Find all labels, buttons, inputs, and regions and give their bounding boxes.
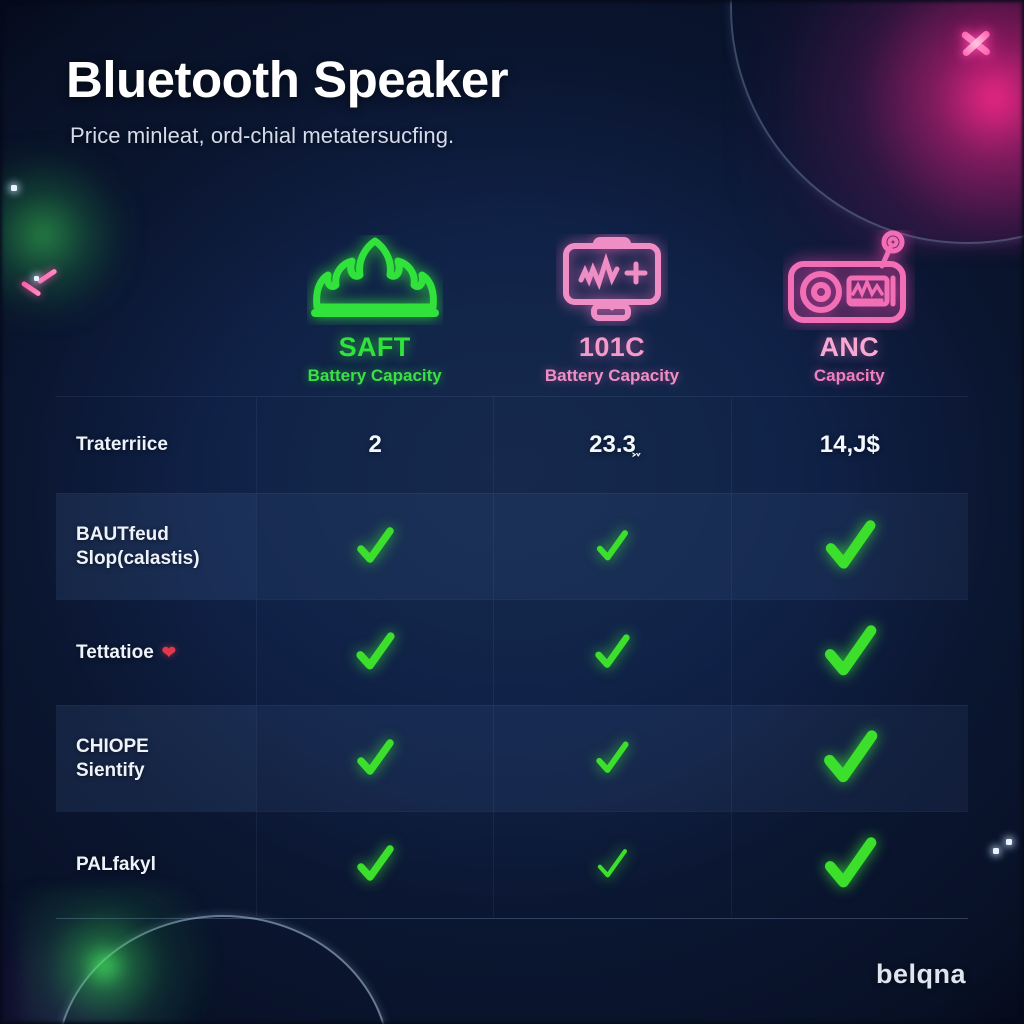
sparkle-icon [11, 185, 17, 191]
table-cell [256, 600, 493, 705]
check-icon [820, 729, 880, 789]
row-label-text: CHIOPESientify [76, 735, 149, 782]
sparkle-icon [993, 848, 999, 854]
table-cell [493, 494, 730, 599]
table-cell [731, 706, 968, 811]
table-cell: 23.3᷿ [493, 397, 730, 493]
table-row: PALfakyl [56, 811, 968, 917]
chevron-down-icon [22, 278, 58, 298]
check-icon [821, 624, 879, 682]
column-code: SAFT [339, 332, 411, 363]
table-row: Tettatioe ❤ [56, 599, 968, 705]
check-icon [352, 630, 398, 676]
page-title: Bluetooth Speaker [66, 50, 508, 109]
poster-canvas: Bluetooth Speaker Price minleat, ord-chi… [0, 0, 1024, 1024]
cell-value: 14,J$ [820, 431, 880, 459]
column-header-anc[interactable]: ANC Capacity [731, 206, 968, 396]
table-cell [731, 494, 968, 599]
table-header-row: SAFT Battery Capacity [56, 206, 968, 396]
heart-icon: ❤ [162, 642, 176, 663]
column-caption: Battery Capacity [545, 366, 679, 386]
table-cell [493, 812, 730, 917]
row-label: PALfakyl [56, 812, 256, 917]
close-x-icon [957, 24, 995, 62]
table-cell [731, 600, 968, 705]
cell-value: 23.3᷿ [589, 431, 636, 459]
column-header-saft[interactable]: SAFT Battery Capacity [256, 206, 493, 396]
row-label: BAUTfeudSlop(calastis) [56, 494, 256, 599]
table-cell [256, 494, 493, 599]
row-label: Tettatioe ❤ [56, 600, 256, 705]
check-icon [822, 519, 878, 575]
row-label: CHIOPESientify [56, 706, 256, 811]
cell-value: 2 [368, 431, 381, 459]
monitor-waveform-icon [556, 232, 668, 328]
table-cell [493, 600, 730, 705]
column-caption: Battery Capacity [308, 366, 442, 386]
row-label-text: Tettatioe [76, 641, 154, 665]
row-label-text: BAUTfeudSlop(calastis) [76, 523, 200, 570]
table-row: BAUTfeudSlop(calastis) [56, 493, 968, 599]
table-cell [731, 812, 968, 917]
check-icon [593, 846, 631, 884]
table-cell [256, 812, 493, 917]
brand-watermark: belqna [876, 959, 966, 990]
table-row: Traterriice 2 23.3᷿ 14,J$ [56, 396, 968, 493]
header-spacer [56, 206, 256, 396]
row-label: Traterriice [56, 397, 256, 493]
comparison-table: SAFT Battery Capacity [56, 206, 968, 917]
row-label-text: Traterriice [76, 433, 168, 457]
check-icon [353, 843, 397, 887]
table-cell [493, 706, 730, 811]
radio-speaker-icon [783, 232, 915, 328]
check-icon [353, 525, 397, 569]
table-cell: 14,J$ [731, 397, 968, 493]
column-code: ANC [819, 332, 879, 363]
check-icon [821, 836, 879, 894]
table-bottom-divider [56, 918, 968, 919]
page-subtitle: Price minleat, ord-chial metatersucfing. [70, 123, 508, 149]
table-cell [256, 706, 493, 811]
sparkle-icon [34, 276, 39, 281]
crown-flame-icon [307, 232, 443, 328]
table-cell: 2 [256, 397, 493, 493]
check-icon [591, 632, 633, 674]
check-icon [593, 528, 631, 566]
column-code: 101C [579, 332, 645, 363]
check-icon [592, 739, 632, 779]
row-label-text: PALfakyl [76, 853, 156, 877]
column-header-101c[interactable]: 101C Battery Capacity [493, 206, 730, 396]
table-row: CHIOPESientify [56, 705, 968, 811]
column-caption: Capacity [814, 366, 885, 386]
check-icon [353, 737, 397, 781]
decorative-arc-bottom-left [56, 915, 390, 1024]
sparkle-icon [1006, 839, 1012, 845]
poster-header: Bluetooth Speaker Price minleat, ord-chi… [66, 50, 508, 149]
